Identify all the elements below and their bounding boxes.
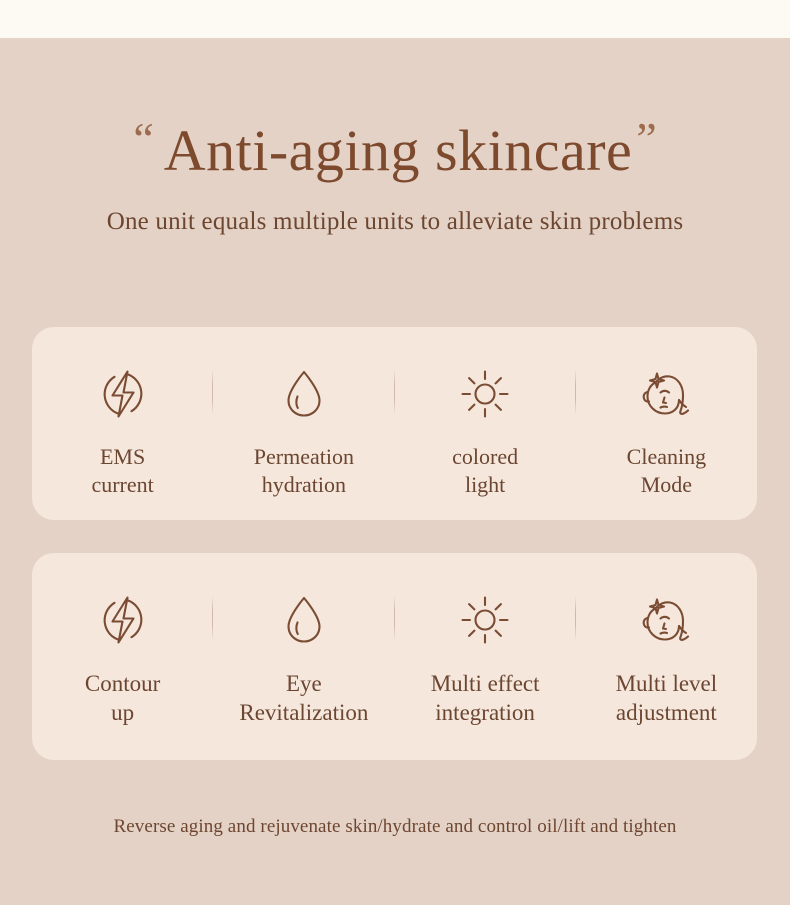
page-title: “Anti-aging skincare” [0, 116, 790, 180]
water-droplet-icon [280, 591, 328, 649]
feature-item[interactable]: Multi effect integration [395, 553, 576, 728]
feature-item[interactable]: EMS current [32, 327, 213, 499]
sun-icon [459, 365, 511, 423]
header-block: “Anti-aging skincare” One unit equals mu… [0, 38, 790, 236]
lightning-bolt-circle-icon [96, 365, 150, 423]
feature-item[interactable]: Permeation hydration [213, 327, 394, 499]
sun-icon [459, 591, 511, 649]
footer-caption: Reverse aging and rejuvenate skin/hydrat… [0, 816, 790, 838]
face-sparkle-icon [638, 365, 694, 423]
feature-label: Cleaning Mode [627, 443, 706, 499]
quote-close-mark: ” [636, 113, 656, 164]
page-subtitle: One unit equals multiple units to allevi… [0, 208, 790, 236]
face-sparkle-icon [638, 591, 694, 649]
quote-open-mark: “ [133, 113, 153, 164]
feature-item[interactable]: Contour up [32, 553, 213, 728]
feature-item[interactable]: colored light [395, 327, 576, 499]
feature-item[interactable]: Cleaning Mode [576, 327, 757, 499]
feature-label: Contour up [85, 669, 160, 728]
feature-label: colored light [452, 443, 518, 499]
water-droplet-icon [280, 365, 328, 423]
feature-label: EMS current [91, 443, 153, 499]
feature-card-2: Contour up Eye Revitalization [32, 553, 757, 760]
feature-label: Eye Revitalization [239, 669, 368, 728]
lightning-bolt-circle-icon [96, 591, 150, 649]
feature-label: Permeation hydration [254, 443, 354, 499]
feature-label: Multi effect integration [431, 669, 540, 728]
feature-item[interactable]: Eye Revitalization [213, 553, 394, 728]
feature-card-1: EMS current Permeation hydration [32, 327, 757, 520]
page-title-text: Anti-aging skincare [164, 118, 633, 183]
top-accent-strip [0, 0, 790, 38]
feature-label: Multi level adjustment [616, 669, 718, 728]
feature-item[interactable]: Multi level adjustment [576, 553, 757, 728]
promo-page: “Anti-aging skincare” One unit equals mu… [0, 38, 790, 905]
